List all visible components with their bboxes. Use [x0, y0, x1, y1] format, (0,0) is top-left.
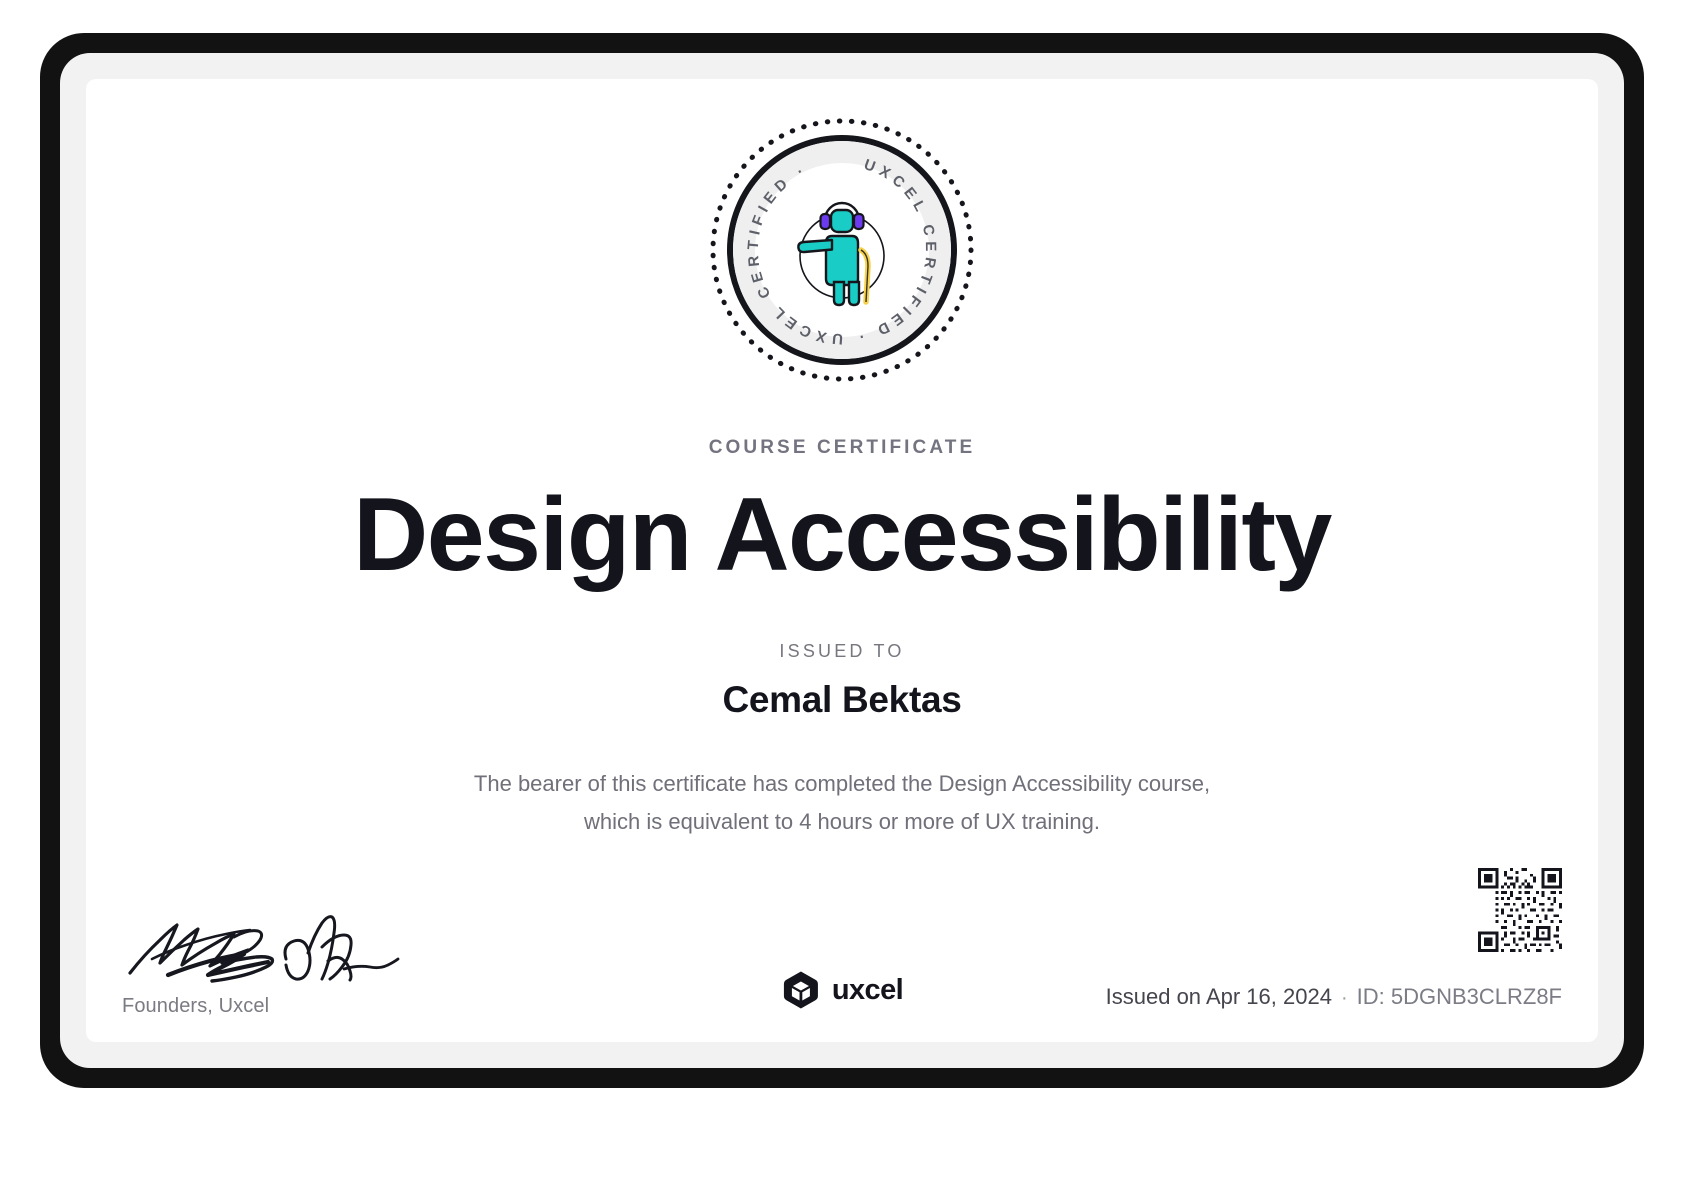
uxcel-cube-logo-icon — [781, 970, 821, 1010]
issued-on-text: Issued on Apr 16, 2024 — [1106, 984, 1332, 1010]
uxcel-wordmark: uxcel — [832, 974, 903, 1007]
uxcel-certified-seal: UXCEL CERTIFIED · UXCEL CERTIFIED · — [708, 116, 976, 384]
signature-caption: Founders, Uxcel — [122, 995, 422, 1018]
issue-meta: Issued on Apr 16, 2024 · ID: 5DGNB3CLRZ8… — [1106, 984, 1562, 1010]
certificate-body: The bearer of this certificate has compl… — [86, 765, 1598, 841]
handwritten-signature-icon — [122, 907, 402, 983]
eyebrow-label: COURSE CERTIFICATE — [86, 437, 1598, 459]
meta-separator: · — [1341, 987, 1348, 1010]
qr-code-icon[interactable] — [1478, 868, 1562, 952]
certificate-matte: UXCEL CERTIFIED · UXCEL CERTIFIED · — [60, 53, 1624, 1068]
issued-to-label: ISSUED TO — [86, 641, 1598, 662]
signature-block: Founders, Uxcel — [122, 907, 422, 1018]
certificate-id: ID: 5DGNB3CLRZ8F — [1357, 984, 1562, 1010]
course-title: Design Accessibility — [86, 479, 1598, 591]
uxcel-brand: uxcel — [781, 970, 903, 1010]
qr-code[interactable] — [1478, 868, 1562, 952]
certificate-footer: Founders, Uxcel uxcel — [86, 862, 1598, 1042]
recipient-name: Cemal Bektas — [86, 679, 1598, 721]
body-line-1: The bearer of this certificate has compl… — [86, 765, 1598, 803]
certificate-page: UXCEL CERTIFIED · UXCEL CERTIFIED · — [86, 79, 1598, 1042]
body-line-2: which is equivalent to 4 hours or more o… — [86, 803, 1598, 841]
certificate-frame: UXCEL CERTIFIED · UXCEL CERTIFIED · — [40, 33, 1644, 1088]
